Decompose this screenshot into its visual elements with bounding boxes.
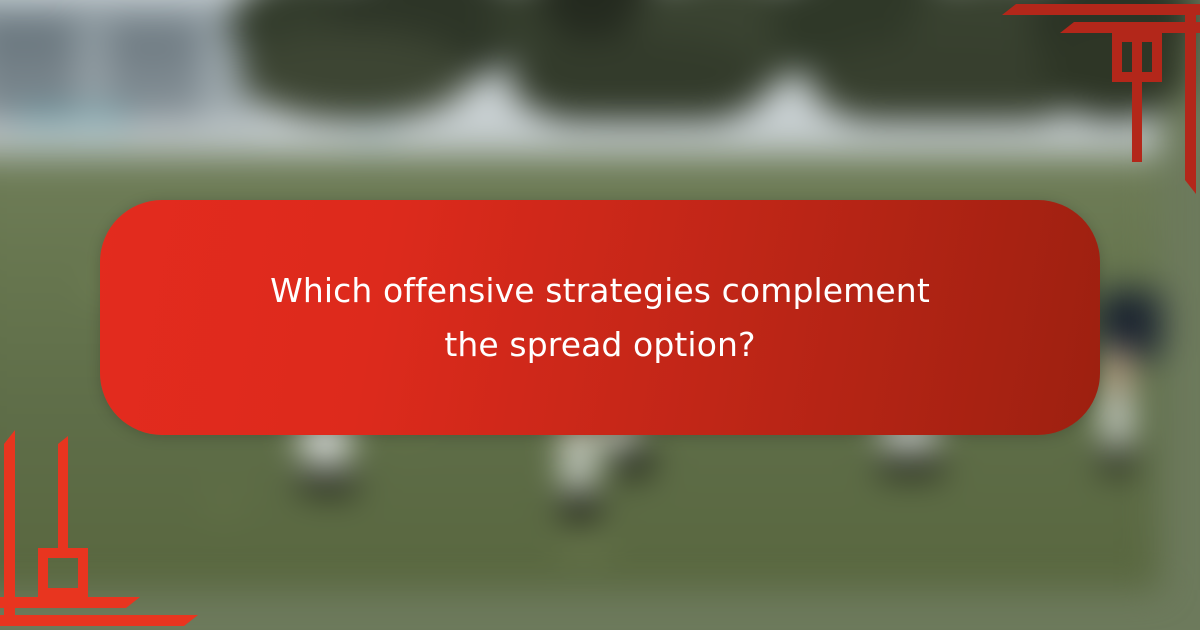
deco-vertical-edge-right bbox=[1185, 4, 1196, 194]
deco-vertical-edge-left bbox=[4, 430, 15, 626]
question-card: Which offensive strategies complement th… bbox=[100, 200, 1100, 435]
deco-bar-long-top-right bbox=[1002, 4, 1200, 15]
question-text: Which offensive strategies complement th… bbox=[220, 264, 980, 371]
background-player-far-right bbox=[1090, 290, 1180, 540]
deco-stem-bottom-left bbox=[58, 436, 68, 558]
corner-decoration-bottom-left bbox=[0, 415, 230, 630]
deco-bar-short-bottom-left bbox=[0, 597, 140, 608]
deco-stem-top-right bbox=[1132, 32, 1142, 162]
slide-canvas: Which offensive strategies complement th… bbox=[0, 0, 1200, 630]
corner-decoration-top-right bbox=[970, 0, 1200, 210]
deco-bar-long-bottom-left bbox=[0, 615, 198, 626]
